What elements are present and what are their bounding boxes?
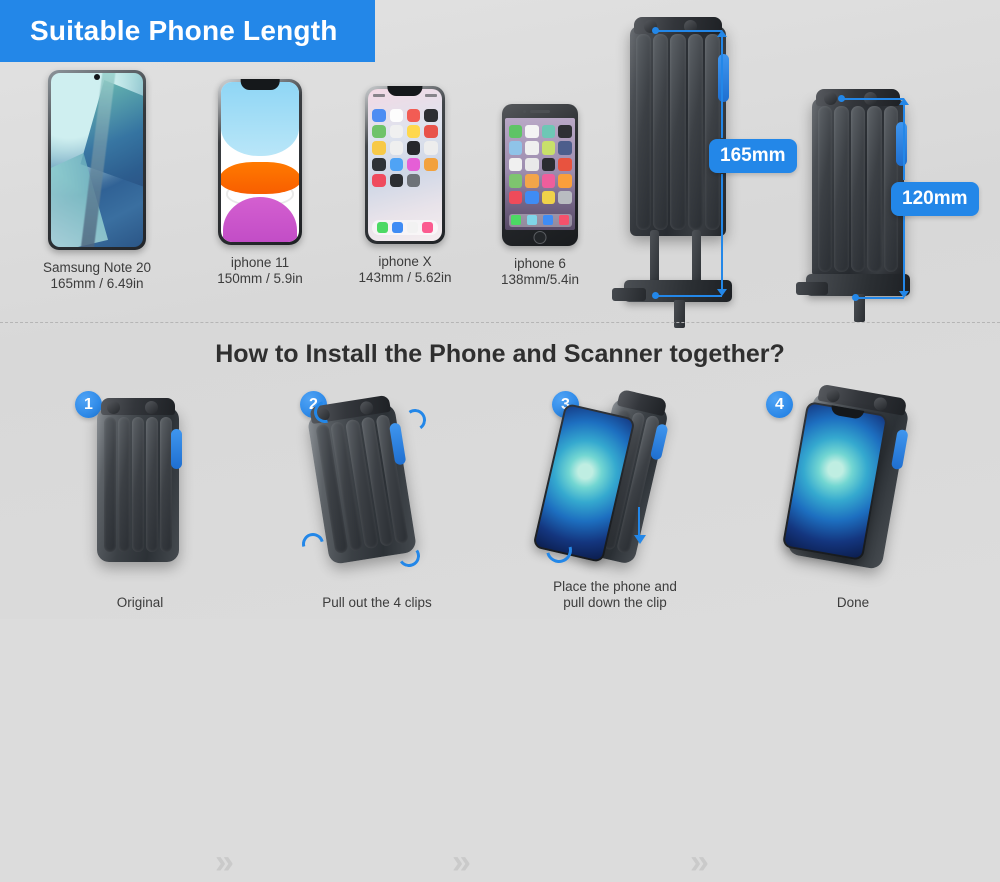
step-separator-icon: » [690,843,703,882]
app-icon [525,141,539,155]
rib [636,34,651,230]
music-app-icon [559,215,569,225]
holder-ribs [636,34,720,230]
wallpaper-shape [221,162,299,194]
phone-size: 138mm/5.4in [470,272,610,288]
phone-screen [221,82,299,242]
blue-release-tab [718,54,729,102]
dimension-badge: 120mm [891,182,979,216]
dimension-badge: 165mm [709,139,797,173]
phone-name: iphone 11 [180,255,340,271]
phone-card-iphone-x: iphone X 143mm / 5.62in [330,86,480,286]
install-step-1: 1 Original [25,385,255,619]
music-app-icon [422,222,433,233]
dim-line [721,34,723,138]
phone-card-samsung-note-20: Samsung Note 20 165mm / 6.49in [12,70,182,292]
wallpaper-shape [223,197,298,242]
dim-line [721,174,723,292]
app-icon [558,174,572,188]
iphone-6-phone [502,104,578,246]
wallpaper-shape [221,82,299,156]
app-icon [509,174,523,188]
app-icon-empty [424,174,437,187]
app-icon [509,191,523,205]
app-icon [558,141,572,155]
app-icon [509,158,523,172]
app-icon [542,141,556,155]
step-illustration [25,395,255,575]
notch-icon [387,86,422,96]
dim-leader-line [656,30,722,32]
step-separator-icon: » [215,843,228,882]
dim-leader-line [656,295,722,297]
phone-app-icon [377,222,388,233]
app-icon [542,158,556,172]
dock [509,214,572,227]
app-icon [407,174,420,187]
app-icon [558,125,572,139]
rib [834,106,848,272]
app-icon [424,125,437,138]
rib [867,106,881,272]
app-icon [390,158,403,171]
iphone-11-phone [218,79,302,245]
phone-name: iphone X [330,254,480,270]
app-icon [390,109,403,122]
app-icon [558,158,572,172]
app-icon [424,141,437,154]
rib [118,417,130,552]
rib [670,34,685,230]
app-icon [525,191,539,205]
dim-line [903,102,905,180]
install-steps: 1 Original » [0,385,1000,619]
dim-arrow-down-icon [717,289,727,296]
install-step-3: 3 Place the phone and p [500,385,730,619]
clip-knob-icon [107,401,120,414]
safari-app-icon [407,222,418,233]
phone-comparison-row: Samsung Note 20 165mm / 6.49in iphone 11… [0,70,600,315]
app-icon [390,174,403,187]
install-step-4: 4 Done [738,385,968,619]
holder-device [97,407,179,562]
rib [851,106,865,272]
app-icon [372,158,385,171]
app-icon [525,174,539,188]
step-caption: Pull out the 4 clips [262,595,492,611]
app-icon [372,141,385,154]
infographic-page: Suitable Phone Length Samsung Note 20 16… [0,0,1000,619]
home-button-icon [534,231,547,244]
step-caption: Place the phone and pull down the clip [500,579,730,611]
step-caption: Original [25,595,255,611]
rib [818,106,832,272]
app-icon [407,158,420,171]
rib [104,417,116,552]
iphone-x-phone [365,86,445,244]
phone-app-icon [511,215,521,225]
dim-arrow-up-icon [717,30,727,37]
app-icon [390,125,403,138]
app-icon [509,141,523,155]
mail-app-icon [527,215,537,225]
app-icon [424,158,437,171]
install-step-2: 2 [262,385,492,619]
phone-size: 165mm / 6.49in [12,276,182,292]
pull-down-arrow-shaft [638,507,640,537]
blue-release-tab [896,122,907,166]
status-signal-icon [425,94,437,97]
holder-ribs [818,106,898,272]
holder-foot [796,282,828,295]
app-icon [542,125,556,139]
app-icon [509,125,523,139]
dim-line [903,216,905,294]
dim-leader-line [842,98,904,100]
app-grid [372,109,437,187]
rotate-clip-arrow-icon [298,529,328,559]
earpiece-icon [530,110,550,113]
phone-name: iphone 6 [470,256,610,272]
front-camera-icon [523,110,526,113]
holder-foot [612,288,646,301]
rib [653,34,668,230]
status-time [373,94,385,97]
app-icon [372,125,385,138]
app-icon [372,174,385,187]
dock [372,220,437,235]
app-grid [509,125,572,205]
clip-knob-icon [824,92,837,105]
dim-leader-line [856,297,904,299]
clip-knob-icon [145,401,158,414]
step-illustration [262,395,492,575]
rib [132,417,144,552]
app-icon [407,125,420,138]
title-banner: Suitable Phone Length [0,0,375,62]
app-icon [525,125,539,139]
rib [688,34,703,230]
rotate-clip-arrow-icon [402,407,427,432]
app-icon [372,109,385,122]
safari-app-icon [543,215,553,225]
blue-release-tab [171,429,182,469]
samsung-note-20-phone [48,70,146,250]
holder-body [630,26,726,236]
rib [146,417,158,552]
install-section-title: How to Install the Phone and Scanner tog… [0,340,1000,369]
step-illustration [500,395,730,575]
mail-app-icon [392,222,403,233]
holder-stem [674,300,685,328]
pull-down-arrow-icon [634,535,646,544]
step-separator-icon: » [452,843,465,882]
phone-screen [51,73,143,247]
app-icon [558,191,572,205]
dim-arrow-down-icon [899,291,909,298]
phone-size: 143mm / 5.62in [330,270,480,286]
section-divider [0,322,1000,323]
app-icon [407,109,420,122]
notch-icon [241,79,280,90]
holder-ribs [104,417,172,552]
phone-screen [368,89,442,241]
banner-title: Suitable Phone Length [30,15,338,47]
phone-card-iphone-11: iphone 11 150mm / 5.9in [180,79,340,287]
app-icon [407,141,420,154]
app-icon [525,158,539,172]
step-caption: Done [738,595,968,611]
phone-screen [505,118,575,230]
app-icon [542,191,556,205]
blue-release-tab [891,429,909,470]
phone-card-iphone-6: iphone 6 138mm/5.4in [470,104,610,288]
phone-size: 150mm / 5.9in [180,271,340,287]
step-illustration [738,395,968,575]
app-icon [424,109,437,122]
phone-name: Samsung Note 20 [12,260,182,276]
app-icon [542,174,556,188]
dim-arrow-up-icon [899,98,909,105]
punch-hole-camera-icon [94,74,100,80]
app-icon [390,141,403,154]
